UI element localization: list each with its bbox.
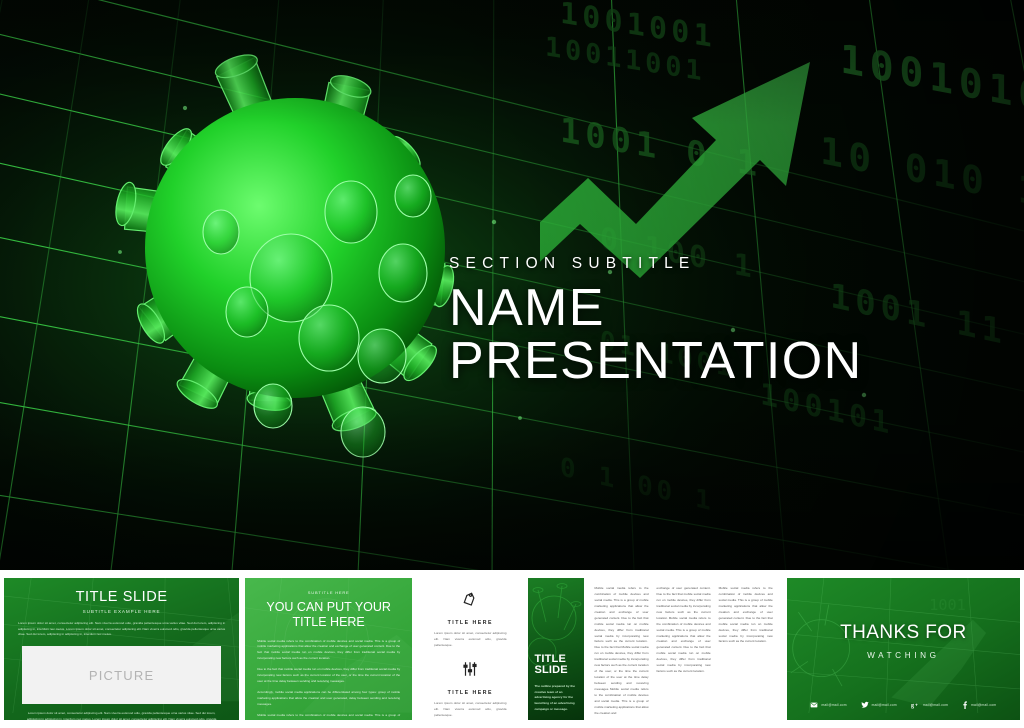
twitter-icon [861, 701, 869, 709]
thumb-title: THANKS FOR [787, 622, 1020, 644]
picture-label: PICTURE [89, 668, 154, 683]
social-label: mail@mail.com [971, 703, 996, 707]
template-preview: 1001001 10011001 100101011 1001 0 1 10 0… [0, 0, 1024, 728]
social-link-mail[interactable]: mail@mail.com [810, 701, 846, 709]
facebook-icon [962, 701, 968, 709]
icon-block: TITLE HERE Lorem ipsum dolor sit amet, c… [418, 648, 522, 718]
thumb-body: Mobile social media refers to the combin… [257, 639, 400, 721]
sliders-icon [461, 660, 479, 683]
thumbnail-icons-slide[interactable]: TITLE HERE Lorem ipsum dolor sit amet, c… [418, 578, 522, 720]
social-link-googleplus[interactable]: g + mail@mail.com [911, 701, 948, 709]
page-title: NAME PRESENTATION [449, 282, 1024, 388]
thumb-subtitle: WATCHING [787, 651, 1020, 660]
thumb-body-secondary: Lorem ipsum dolor sit amet, consectetur … [26, 711, 217, 720]
picture-placeholder[interactable]: PICTURE [22, 646, 221, 704]
hero-text-block: SECTION SUBTITLE NAME PRESENTATION [449, 255, 1024, 388]
thumbnail-strip: TITLE SLIDE SUBTITLE EXAMPLE HERE Lorem … [0, 570, 1024, 728]
text-column: Mobile social media refers to the combin… [594, 586, 648, 712]
hero-subtitle: SECTION SUBTITLE [449, 255, 1024, 273]
social-label: mail@mail.com [923, 703, 948, 707]
thumb-paragraph: Due to the fact that mobile social media… [257, 667, 400, 685]
thumb-subtitle: SUBTITLE HERE [245, 590, 412, 595]
icon-block-title: TITLE HERE [448, 690, 493, 696]
thumb-paragraph: Mobile social media refers to the combin… [257, 713, 400, 720]
icon-block-text: Lorem ipsum dolor sit amet, consectetur … [434, 630, 506, 648]
svg-text:+: + [915, 702, 918, 707]
text-column: exchange of user generated content. Due … [657, 586, 711, 712]
thumb-body: Lorem ipsum dolor sit amet, consectetur … [18, 621, 225, 638]
tag-icon [461, 590, 479, 613]
thumb-title: YOU CAN PUT YOUR TITLE HERE [245, 600, 412, 630]
sidebar-body: The outline prepared by the creative tea… [534, 684, 579, 713]
text-columns: Mobile social media refers to the combin… [584, 578, 780, 720]
thumb-paragraph: Accordingly, mobile social media applica… [257, 690, 400, 708]
icon-block: TITLE HERE Lorem ipsum dolor sit amet, c… [418, 578, 522, 648]
thumbnail-title-slide[interactable]: TITLE SLIDE SUBTITLE EXAMPLE HERE Lorem … [4, 578, 239, 720]
thumbnail-content-slide[interactable]: SUBTITLE HERE YOU CAN PUT YOUR TITLE HER… [245, 578, 412, 720]
thumb-title: TITLE SLIDE [4, 589, 239, 605]
social-link-twitter[interactable]: mail@mail.com [861, 701, 897, 709]
googleplus-icon: g + [911, 701, 920, 709]
social-link-facebook[interactable]: mail@mail.com [962, 701, 996, 709]
sidebar-panel: TITLE SLIDE The outline prepared by the … [528, 578, 584, 720]
social-label: mail@mail.com [821, 703, 846, 707]
text-column: Mobile social media refers to the combin… [719, 586, 773, 712]
social-label: mail@mail.com [872, 703, 897, 707]
icon-block-title: TITLE HERE [448, 620, 493, 626]
thumb-decoration: 1001 [787, 578, 1020, 713]
growth-arrow-icon [540, 10, 960, 290]
thumbnail-columns-slide[interactable]: TITLE SLIDE The outline prepared by the … [528, 578, 780, 720]
thumb-paragraph: Mobile social media refers to the combin… [257, 639, 400, 663]
hero-slide[interactable]: 1001001 10011001 100101011 1001 0 1 10 0… [0, 0, 1024, 570]
icon-block-text: Lorem ipsum dolor sit amet, consectetur … [434, 700, 506, 718]
thumbnail-thanks-slide[interactable]: 1001 THANKS FOR WATCHING mail@mail.com m… [787, 578, 1020, 720]
thumb-subtitle: SUBTITLE EXAMPLE HERE [4, 609, 239, 614]
social-links: mail@mail.com mail@mail.com g + mail@mai… [787, 701, 1020, 709]
svg-text:1001: 1001 [929, 596, 965, 614]
sidebar-title: TITLE SLIDE [534, 654, 584, 676]
mail-icon [810, 701, 818, 709]
svg-text:g: g [911, 703, 914, 709]
